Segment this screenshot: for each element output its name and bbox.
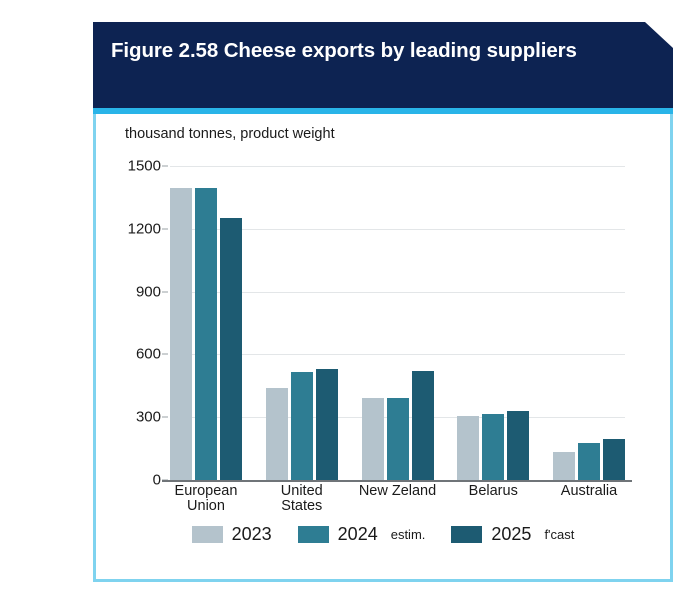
bar-groups: EuropeanUnionUnitedStatesNew ZelandBelar… (170, 166, 625, 480)
figure-title: Figure 2.58 Cheese exports by leading su… (111, 39, 577, 63)
y-axis-tick-label: 1500 (128, 158, 161, 175)
y-axis-tick-label: 0 (153, 472, 161, 489)
x-axis-category-label: Belarus (469, 484, 518, 499)
y-axis-tick-label: 900 (136, 283, 161, 300)
y-axis-tick-mark (162, 417, 168, 418)
chart-legend: 20232024estim.2025f'cast (96, 524, 670, 545)
legend-item[interactable]: 2023 (192, 524, 272, 545)
chart-panel: thousand tonnes, product weight 03006009… (93, 114, 673, 582)
y-axis-tick-label: 1200 (128, 220, 161, 237)
x-axis-category-label: New Zeland (359, 484, 436, 499)
y-axis-tick-mark (162, 166, 168, 167)
y-axis-tick-mark (162, 354, 168, 355)
y-axis-tick-mark (162, 291, 168, 292)
bar-group: EuropeanUnion (170, 166, 242, 480)
legend-qualifier-label: f'cast (544, 527, 574, 542)
x-axis-category-label: EuropeanUnion (175, 484, 238, 514)
y-axis-tick-label: 300 (136, 409, 161, 426)
y-axis-tick-mark (162, 228, 168, 229)
x-axis-category-label: UnitedStates (281, 484, 323, 514)
bar (553, 452, 575, 480)
legend-swatch (192, 526, 223, 543)
legend-year-label: 2025 (491, 524, 531, 545)
legend-year-label: 2024 (338, 524, 378, 545)
bar (412, 371, 434, 480)
bar (603, 439, 625, 480)
x-axis-category-label: Australia (561, 484, 617, 499)
legend-item[interactable]: 2025f'cast (451, 524, 574, 545)
legend-item[interactable]: 2024estim. (298, 524, 426, 545)
legend-swatch (451, 526, 482, 543)
y-axis-unit-label: thousand tonnes, product weight (125, 126, 335, 142)
bar (387, 398, 409, 480)
bar (507, 411, 529, 480)
bar (220, 218, 242, 480)
bar (482, 414, 504, 480)
bar-group: Belarus (457, 166, 529, 480)
x-axis-baseline (162, 480, 632, 482)
bar (266, 388, 288, 480)
plot-area: 030060090012001500 EuropeanUnionUnitedSt… (170, 166, 625, 480)
clipped-text-above-figure (0, 0, 677, 14)
bar (362, 398, 384, 480)
bar-group: New Zeland (362, 166, 434, 480)
bar (170, 188, 192, 480)
figure-card: Figure 2.58 Cheese exports by leading su… (93, 22, 673, 582)
bar-group: UnitedStates (266, 166, 338, 480)
bar (291, 372, 313, 480)
y-axis-tick-label: 600 (136, 346, 161, 363)
bar (457, 416, 479, 480)
legend-year-label: 2023 (232, 524, 272, 545)
bar-group: Australia (553, 166, 625, 480)
bar (316, 369, 338, 480)
figure-title-banner: Figure 2.58 Cheese exports by leading su… (93, 22, 673, 108)
legend-swatch (298, 526, 329, 543)
bar (195, 188, 217, 480)
bar (578, 443, 600, 480)
legend-qualifier-label: estim. (391, 527, 426, 542)
